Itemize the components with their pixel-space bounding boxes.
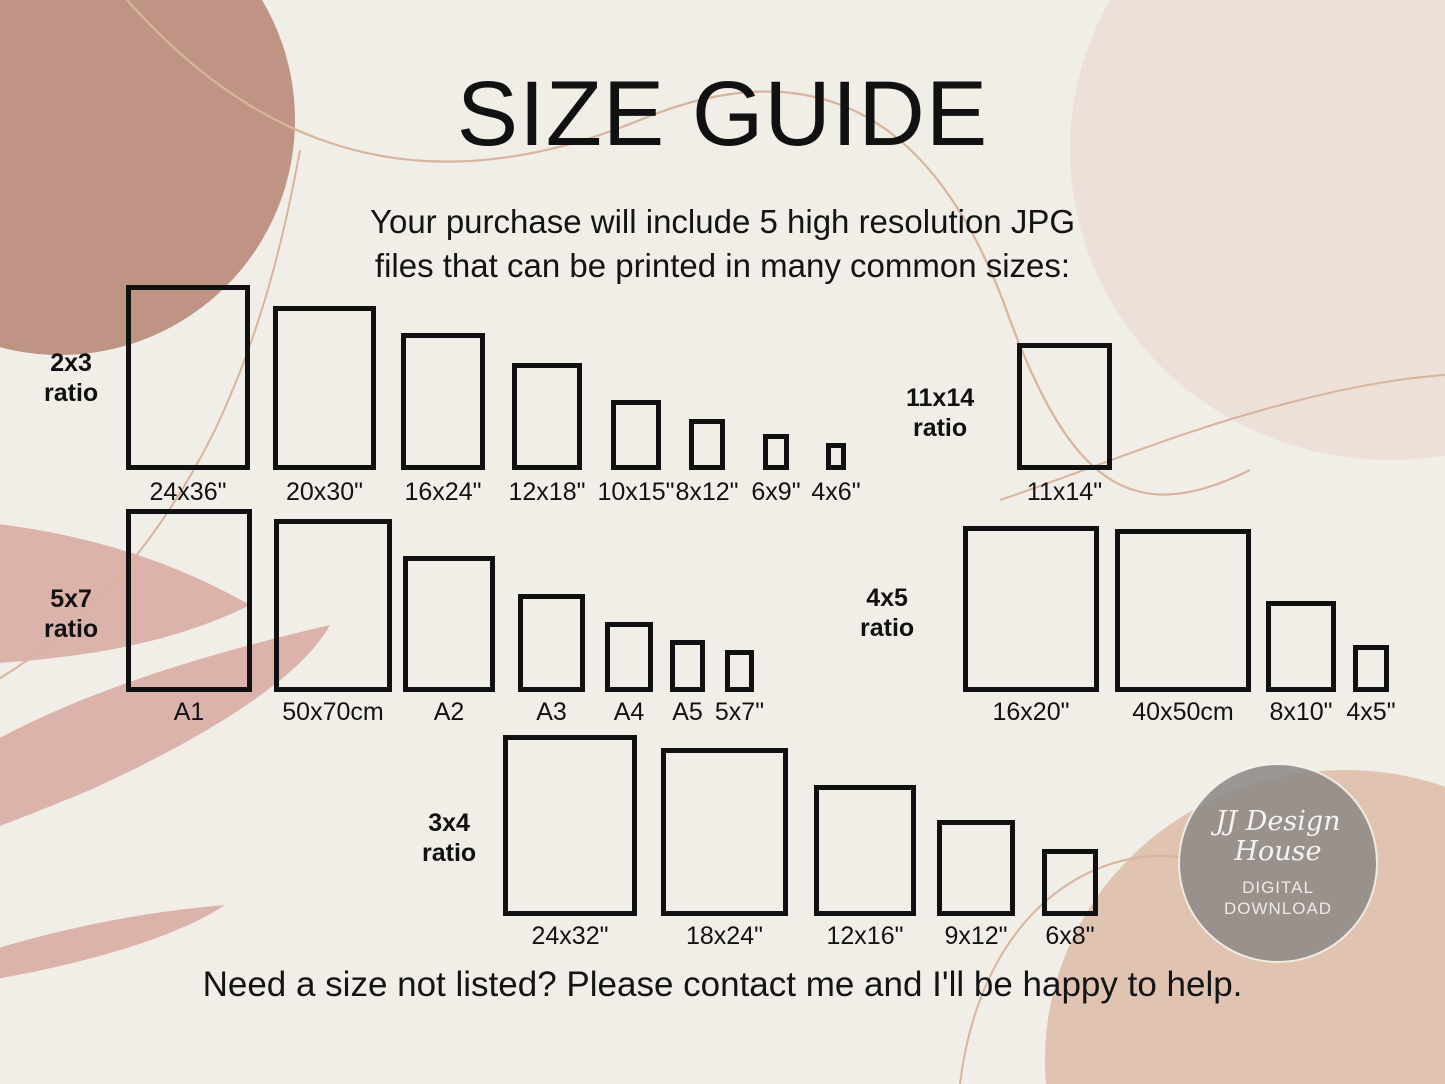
- ratio-label-line-1: 11x14: [906, 383, 974, 413]
- size-label-6x9: 6x9": [751, 478, 800, 507]
- size-guide-canvas: SIZE GUIDE Your purchase will include 5 …: [0, 0, 1445, 1084]
- frame-8x12[interactable]: [689, 419, 725, 470]
- frame-9x12[interactable]: [937, 820, 1015, 916]
- size-label-20x30: 20x30": [286, 478, 363, 507]
- size-label-A1: A1: [174, 698, 205, 727]
- frame-6x9[interactable]: [763, 434, 789, 470]
- frame-16x24[interactable]: [401, 333, 485, 470]
- frame-A2[interactable]: [403, 556, 495, 692]
- ratio-label-line-2: ratio: [906, 413, 974, 443]
- ratio-label-ratio-11x14: 11x14ratio: [906, 383, 974, 443]
- watermark-subtitle: DIGITAL DOWNLOAD: [1224, 877, 1332, 919]
- size-label-12x16: 12x16": [827, 922, 904, 951]
- watermark-sub-line-1: DIGITAL: [1224, 877, 1332, 898]
- size-label-5x7: 5x7": [715, 698, 764, 727]
- frame-12x18[interactable]: [512, 363, 582, 470]
- ratio-label-line-1: 3x4: [422, 808, 476, 838]
- ratio-label-line-1: 4x5: [860, 583, 914, 613]
- size-label-A2: A2: [434, 698, 465, 727]
- ratio-label-ratio-4x5: 4x5ratio: [860, 583, 914, 643]
- size-label-6x8: 6x8": [1045, 922, 1094, 951]
- size-label-24x32: 24x32": [532, 922, 609, 951]
- size-label-12x18: 12x18": [509, 478, 586, 507]
- watermark-badge: JJ Design House DIGITAL DOWNLOAD: [1178, 763, 1378, 963]
- ratio-label-line-2: ratio: [422, 838, 476, 868]
- frame-24x36[interactable]: [126, 285, 250, 470]
- size-label-24x36: 24x36": [150, 478, 227, 507]
- size-label-9x12: 9x12": [944, 922, 1007, 951]
- frame-8x10[interactable]: [1266, 601, 1336, 692]
- ratio-label-line-1: 2x3: [44, 348, 98, 378]
- ratio-label-line-2: ratio: [44, 614, 98, 644]
- frame-6x8[interactable]: [1042, 849, 1098, 916]
- watermark-sub-line-2: DOWNLOAD: [1224, 898, 1332, 919]
- size-label-A3: A3: [536, 698, 567, 727]
- frame-40x50cm[interactable]: [1115, 529, 1251, 692]
- watermark-brand-line-1: JJ Design: [1215, 807, 1340, 837]
- frame-A3[interactable]: [518, 594, 585, 692]
- frame-4x5[interactable]: [1353, 645, 1389, 692]
- page-title: SIZE GUIDE: [0, 62, 1445, 167]
- size-label-8x10: 8x10": [1269, 698, 1332, 727]
- ratio-label-line-1: 5x7: [44, 584, 98, 614]
- ratio-label-ratio-3x4: 3x4ratio: [422, 808, 476, 868]
- footer-note: Need a size not listed? Please contact m…: [0, 965, 1445, 1005]
- page-subtitle: Your purchase will include 5 high resolu…: [0, 200, 1445, 288]
- frame-5x7[interactable]: [725, 650, 754, 692]
- size-label-16x20: 16x20": [993, 698, 1070, 727]
- ratio-label-ratio-5x7: 5x7ratio: [44, 584, 98, 644]
- size-label-4x6: 4x6": [811, 478, 860, 507]
- frame-11x14[interactable]: [1017, 343, 1112, 470]
- size-label-18x24: 18x24": [686, 922, 763, 951]
- size-label-40x50cm: 40x50cm: [1132, 698, 1233, 727]
- size-label-50x70cm: 50x70cm: [282, 698, 383, 727]
- watermark-brand: JJ Design House: [1215, 807, 1340, 867]
- subtitle-line-1: Your purchase will include 5 high resolu…: [0, 200, 1445, 244]
- frame-50x70cm[interactable]: [274, 519, 392, 692]
- watermark-brand-line-2: House: [1215, 837, 1340, 867]
- frame-A4[interactable]: [605, 622, 653, 692]
- frame-12x16[interactable]: [814, 785, 916, 916]
- size-label-16x24: 16x24": [405, 478, 482, 507]
- ratio-label-line-2: ratio: [860, 613, 914, 643]
- frame-24x32[interactable]: [503, 735, 637, 916]
- ratio-label-ratio-2x3: 2x3ratio: [44, 348, 98, 408]
- frame-18x24[interactable]: [661, 748, 788, 916]
- frame-4x6[interactable]: [826, 443, 846, 470]
- ratio-label-line-2: ratio: [44, 378, 98, 408]
- frame-A5[interactable]: [670, 640, 705, 692]
- frame-10x15[interactable]: [611, 400, 661, 470]
- size-label-10x15: 10x15": [598, 478, 675, 507]
- subtitle-line-2: files that can be printed in many common…: [0, 244, 1445, 288]
- frame-16x20[interactable]: [963, 526, 1099, 692]
- frame-20x30[interactable]: [273, 306, 376, 470]
- size-label-8x12: 8x12": [675, 478, 738, 507]
- size-label-A5: A5: [672, 698, 703, 727]
- size-label-A4: A4: [614, 698, 645, 727]
- size-label-11x14: 11x14": [1027, 478, 1102, 507]
- size-label-4x5: 4x5": [1346, 698, 1395, 727]
- frame-A1[interactable]: [126, 509, 252, 692]
